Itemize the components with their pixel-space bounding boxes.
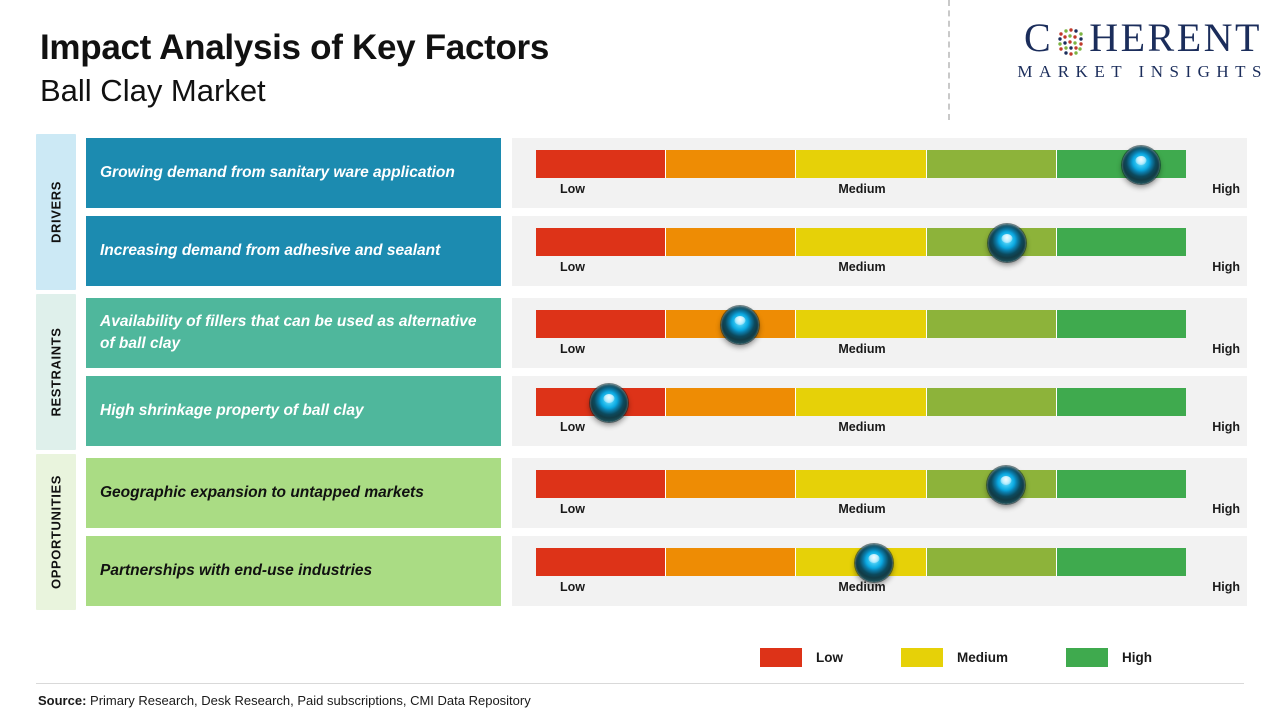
impact-gauge: Low Medium High <box>512 458 1247 528</box>
legend-item-low: Low <box>760 648 843 667</box>
scale-label-low: Low <box>560 342 585 356</box>
impact-gauge: Low Medium High <box>512 376 1247 446</box>
footer-divider <box>36 683 1244 684</box>
factor-card[interactable]: Growing demand from sanitary ware applic… <box>86 138 501 208</box>
impact-gauge: Low Medium High <box>512 216 1247 286</box>
gauge-scale: Low Medium High <box>536 420 1240 438</box>
gauge-segment <box>927 150 1057 178</box>
scale-label-high: High <box>1212 342 1240 356</box>
legend-swatch-low <box>760 648 802 667</box>
logo-wordmark: C <box>942 18 1262 58</box>
factor-card[interactable]: Availability of fillers that can be used… <box>86 298 501 368</box>
factor-label: Geographic expansion to untapped markets <box>100 482 434 504</box>
scale-label-medium: Medium <box>838 260 885 274</box>
legend: Low Medium High <box>760 644 1210 670</box>
logo-letter-c: C <box>1024 18 1053 58</box>
legend-label-medium: Medium <box>957 650 1008 665</box>
gauge-marker-indicator[interactable] <box>1122 146 1160 184</box>
source-label: Source: <box>38 693 86 708</box>
factor-label: Availability of fillers that can be used… <box>100 311 501 356</box>
gauge-segment <box>1057 548 1186 576</box>
category-strip-label: OPPORTUNITIES <box>49 475 64 589</box>
gauge-bar <box>536 310 1186 338</box>
gauge-segment <box>666 388 796 416</box>
impact-gauge: Low Medium High <box>512 298 1247 368</box>
gauge-scale: Low Medium High <box>536 260 1240 278</box>
scale-label-medium: Medium <box>838 502 885 516</box>
scale-label-high: High <box>1212 420 1240 434</box>
legend-item-medium: Medium <box>901 648 1008 667</box>
gauge-segment <box>796 150 926 178</box>
gauge-segment <box>796 388 926 416</box>
company-logo: C <box>942 18 1262 82</box>
gauge-segment <box>536 150 666 178</box>
legend-swatch-medium <box>901 648 943 667</box>
scale-label-high: High <box>1212 502 1240 516</box>
gauge-marker-indicator[interactable] <box>855 544 893 582</box>
factor-card[interactable]: High shrinkage property of ball clay <box>86 376 501 446</box>
gauge-segment <box>666 150 796 178</box>
dotted-globe-icon <box>1054 24 1088 58</box>
gauge-scale: Low Medium High <box>536 182 1240 200</box>
source-line: Source: Primary Research, Desk Research,… <box>38 693 531 708</box>
logo-tagline: MARKET INSIGHTS <box>942 62 1268 82</box>
gauge-segment <box>927 548 1057 576</box>
scale-label-low: Low <box>560 260 585 274</box>
scale-label-medium: Medium <box>838 580 885 594</box>
legend-item-high: High <box>1066 648 1152 667</box>
gauge-bar <box>536 470 1186 498</box>
legend-label-low: Low <box>816 650 843 665</box>
gauge-segment <box>666 548 796 576</box>
category-strip-drivers: DRIVERS <box>36 134 76 290</box>
gauge-segment <box>1057 470 1186 498</box>
gauge-marker-indicator[interactable] <box>988 224 1026 262</box>
gauge-segment <box>927 388 1057 416</box>
factor-card[interactable]: Increasing demand from adhesive and seal… <box>86 216 501 286</box>
scale-label-high: High <box>1212 580 1240 594</box>
factor-card[interactable]: Geographic expansion to untapped markets <box>86 458 501 528</box>
factor-label: Partnerships with end-use industries <box>100 560 382 582</box>
gauge-segment <box>666 228 796 256</box>
gauge-segment <box>1057 310 1186 338</box>
gauge-segment <box>1057 388 1186 416</box>
category-strip-label: RESTRAINTS <box>49 327 64 416</box>
gauge-bar <box>536 228 1186 256</box>
impact-gauge: Low Medium High <box>512 138 1247 208</box>
source-text: Primary Research, Desk Research, Paid su… <box>86 693 530 708</box>
gauge-bar <box>536 388 1186 416</box>
factor-label: High shrinkage property of ball clay <box>100 400 374 422</box>
gauge-marker-indicator[interactable] <box>987 466 1025 504</box>
impact-gauge: Low Medium High <box>512 536 1247 606</box>
gauge-scale: Low Medium High <box>536 580 1240 598</box>
gauge-segment <box>796 310 926 338</box>
scale-label-medium: Medium <box>838 420 885 434</box>
legend-swatch-high <box>1066 648 1108 667</box>
gauge-segment <box>927 310 1057 338</box>
scale-label-low: Low <box>560 420 585 434</box>
factor-label: Increasing demand from adhesive and seal… <box>100 240 450 262</box>
factor-card[interactable]: Partnerships with end-use industries <box>86 536 501 606</box>
page-title: Impact Analysis of Key Factors <box>40 30 740 67</box>
scale-label-low: Low <box>560 502 585 516</box>
header-title-block: Impact Analysis of Key Factors Ball Clay… <box>40 30 740 108</box>
scale-label-medium: Medium <box>838 342 885 356</box>
scale-label-high: High <box>1212 260 1240 274</box>
gauge-scale: Low Medium High <box>536 502 1240 520</box>
category-strip-opportunities: OPPORTUNITIES <box>36 454 76 610</box>
gauge-segment <box>796 228 926 256</box>
factor-label: Growing demand from sanitary ware applic… <box>100 162 465 184</box>
gauge-segment <box>536 228 666 256</box>
gauge-bar <box>536 150 1186 178</box>
logo-wordmark-text: HERENT <box>1089 18 1262 58</box>
scale-label-low: Low <box>560 580 585 594</box>
gauge-marker-indicator[interactable] <box>590 384 628 422</box>
scale-label-high: High <box>1212 182 1240 196</box>
category-strip-restraints: RESTRAINTS <box>36 294 76 450</box>
legend-label-high: High <box>1122 650 1152 665</box>
gauge-segment <box>1057 228 1186 256</box>
gauge-segment <box>796 470 926 498</box>
gauge-segment <box>536 470 666 498</box>
scale-label-low: Low <box>560 182 585 196</box>
gauge-segment <box>666 470 796 498</box>
category-strip-label: DRIVERS <box>49 181 64 243</box>
scale-label-medium: Medium <box>838 182 885 196</box>
gauge-marker-indicator[interactable] <box>721 306 759 344</box>
page-subtitle: Ball Clay Market <box>40 73 740 109</box>
impact-matrix: DRIVERS RESTRAINTS OPPORTUNITIES Growing… <box>0 138 1280 618</box>
gauge-segment <box>536 310 666 338</box>
gauge-scale: Low Medium High <box>536 342 1240 360</box>
gauge-segment <box>536 548 666 576</box>
